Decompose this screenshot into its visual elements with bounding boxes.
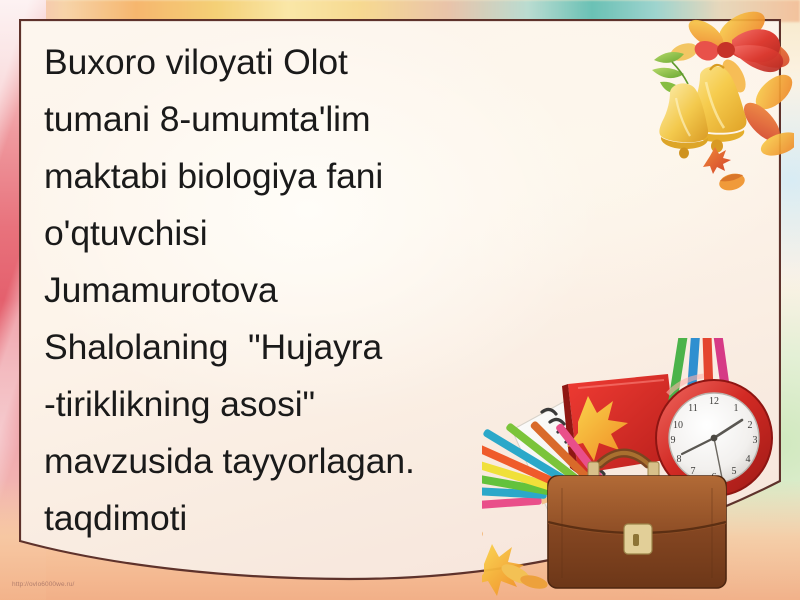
title-line-1: Buxoro viloyati Olot <box>44 34 514 91</box>
title-line-2: tumani 8-umumta'lim <box>44 91 514 148</box>
title-line-9: taqdimoti <box>44 490 514 547</box>
title-line-3: maktabi biologiya fani <box>44 148 514 205</box>
title-line-5: Jumamurotova <box>44 262 514 319</box>
top-color-strip <box>0 0 800 22</box>
title-line-6: Shalolaning "Hujayra <box>44 319 514 376</box>
presentation-slide: Buxoro viloyati Olot tumani 8-umumta'lim… <box>0 0 800 600</box>
slide-title-block: Buxoro viloyati Olot tumani 8-umumta'lim… <box>44 34 514 547</box>
title-line-7: -tiriklikning asosi" <box>44 376 514 433</box>
source-watermark: http://ovlo6000we.ru/ <box>12 581 74 588</box>
title-line-8: mavzusida tayyorlagan. <box>44 433 514 490</box>
title-line-4: o'qtuvchisi <box>44 205 514 262</box>
